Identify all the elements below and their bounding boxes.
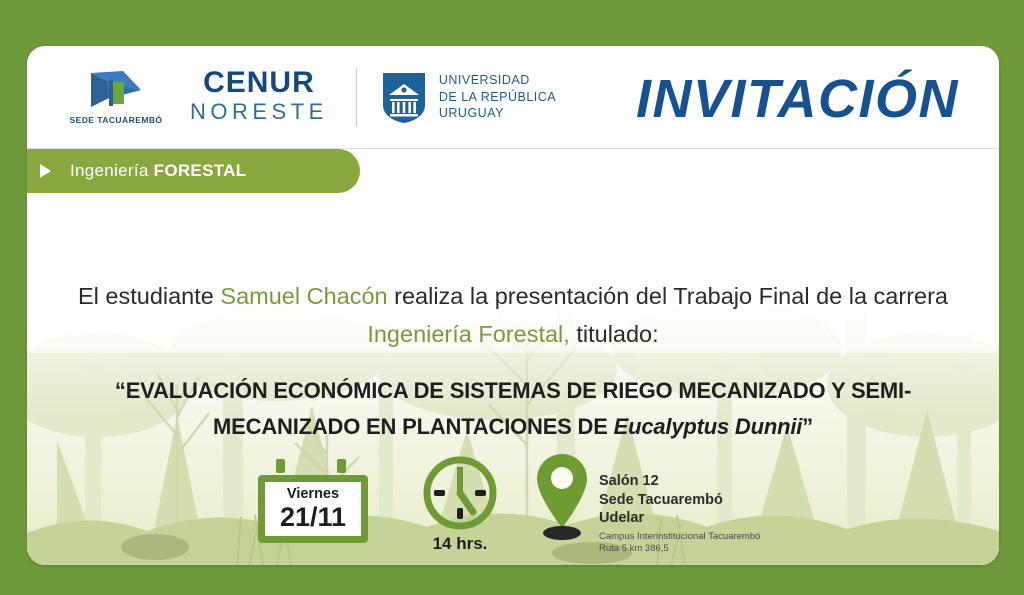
location-line2: Sede Tacuarembó (599, 491, 760, 510)
thesis-title-close: ” (802, 414, 813, 439)
location-line3: Udelar (599, 509, 760, 528)
banner-strong: FORESTAL (154, 161, 247, 180)
presentation-paragraph: El estudiante Samuel Chacón realiza la p… (47, 277, 979, 353)
calendar-ring-right (337, 459, 346, 473)
logo-cenur: CENUR NORESTE (190, 68, 328, 125)
career-name: Ingeniería Forestal, (367, 321, 569, 347)
paragraph-part3: titulado: (570, 321, 659, 347)
clock-icon (421, 454, 499, 532)
program-banner: Ingeniería FORESTAL (27, 149, 360, 193)
logo-udelar: UNIVERSIDAD DE LA REPÚBLICA URUGUAY (381, 71, 556, 124)
udelar-shield-icon (381, 71, 427, 124)
calendar-ring-left (276, 459, 285, 473)
thesis-species-name: Eucalyptus Dunnii (614, 414, 803, 439)
invitation-poster: SEDE TACUAREMBÓ CENUR NORESTE (0, 0, 1024, 595)
sede-tacuarembo-icon (85, 69, 147, 111)
event-details-row: Viernes 21/11 (27, 448, 999, 558)
student-name: Samuel Chacón (220, 283, 387, 309)
location-text: Salón 12 Sede Tacuarembó Udelar Campus I… (599, 472, 760, 556)
event-date-value: 21/11 (280, 504, 346, 531)
location-pin-icon (529, 448, 595, 544)
event-time-label: 14 hrs. (405, 534, 515, 554)
paragraph-part1: El estudiante (78, 283, 220, 309)
udelar-wordmark: UNIVERSIDAD DE LA REPÚBLICA URUGUAY (439, 72, 556, 123)
calendar-icon (258, 459, 368, 471)
logo-sede-label: SEDE TACUAREMBÓ (69, 115, 162, 125)
page-title: INVITACIÓN (636, 68, 959, 130)
paragraph-part2: realiza la presentación del Trabajo Fina… (388, 283, 948, 309)
event-time: 14 hrs. (405, 454, 515, 554)
logo-divider (356, 68, 357, 126)
header-bar: SEDE TACUAREMBÓ CENUR NORESTE (27, 46, 999, 149)
logo-group: SEDE TACUAREMBÓ CENUR NORESTE (60, 60, 556, 134)
cenur-line1: CENUR (203, 68, 315, 98)
program-banner-label: Ingeniería FORESTAL (70, 161, 246, 181)
logo-sede-tacuarembo: SEDE TACUAREMBÓ (60, 69, 172, 125)
location-sub1: Campus Interinstitucional Tacuarembó (599, 531, 760, 544)
location-line1: Salón 12 (599, 472, 760, 491)
card-body: El estudiante Samuel Chacón realiza la p… (27, 193, 999, 565)
event-location: Salón 12 Sede Tacuarembó Udelar Campus I… (529, 448, 760, 556)
body-content: El estudiante Samuel Chacón realiza la p… (27, 193, 999, 565)
cenur-line2: NORESTE (190, 99, 328, 125)
event-weekday: Viernes (287, 487, 339, 502)
udelar-line3: URUGUAY (439, 105, 556, 122)
udelar-line2: DE LA REPÚBLICA (439, 89, 556, 106)
invitation-card: SEDE TACUAREMBÓ CENUR NORESTE (27, 46, 999, 565)
event-date: Viernes 21/11 (258, 459, 368, 543)
banner-prefix: Ingeniería (70, 161, 154, 180)
udelar-line1: UNIVERSIDAD (439, 72, 556, 89)
calendar-body: Viernes 21/11 (258, 475, 368, 543)
chevron-right-icon (36, 161, 56, 181)
thesis-title: “EVALUACIÓN ECONÓMICA DE SISTEMAS DE RIE… (47, 373, 979, 446)
location-sub2: Ruta 5 km 386,5 (599, 543, 760, 556)
